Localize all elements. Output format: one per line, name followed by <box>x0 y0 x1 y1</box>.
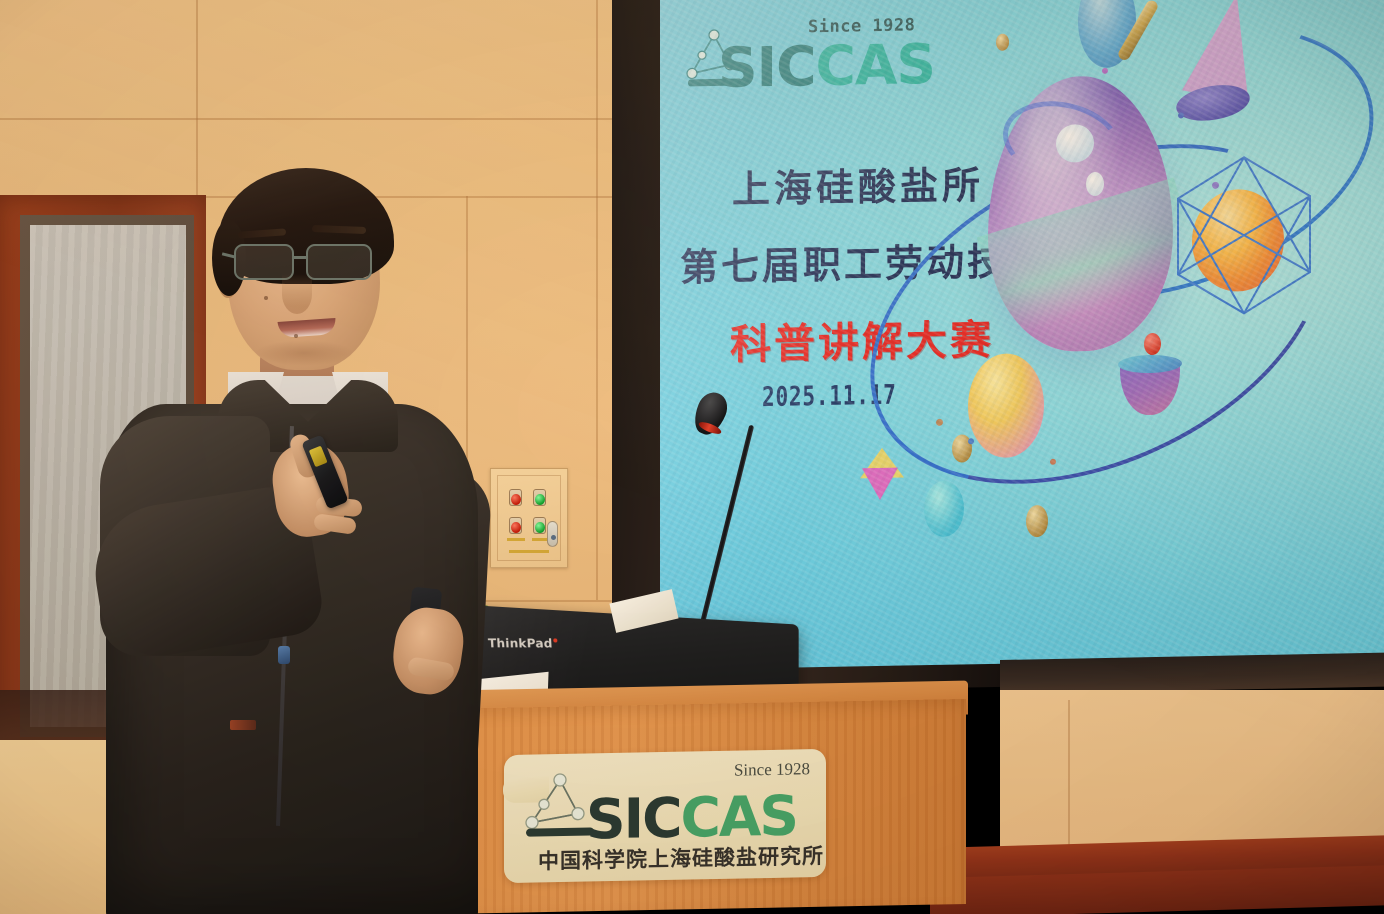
cyan-ellipse <box>924 480 964 537</box>
control-panel-inner-frame <box>497 475 561 561</box>
thinkpad-red-dot <box>553 638 557 642</box>
wall-seam <box>596 0 598 600</box>
jacket-badge <box>230 720 256 730</box>
wall-seam <box>0 118 700 120</box>
glasses-lens-right <box>306 244 372 280</box>
gold-sphere-2 <box>1026 505 1048 537</box>
glasses-bridge <box>294 256 308 259</box>
indicator-lamp-green-top[interactable] <box>533 489 546 506</box>
icosahedron-edges <box>1170 152 1318 320</box>
thinkpad-logo: ThinkPad <box>488 636 558 650</box>
indicator-lamp-red-top[interactable] <box>509 489 522 506</box>
led-screen[interactable]: Since 1928 SICCAS 上海硅酸盐所 第七届职工劳动技能竞赛 科普讲… <box>660 0 1384 670</box>
egg-highlight-small <box>1086 172 1104 196</box>
screen-artwork <box>840 0 1384 609</box>
jacket-zipper-pull <box>278 646 290 664</box>
wall-seam <box>196 0 198 196</box>
plaque-wordmark-part1: SIC <box>586 786 680 852</box>
wall-seam <box>1068 700 1070 850</box>
plaque-since-text: Since 1928 <box>734 759 810 780</box>
presenter-mole <box>294 334 298 338</box>
podium-plaque: Since 1928 SICCAS 中国科学院上海硅酸盐研究所 <box>504 749 826 883</box>
presenter <box>78 168 498 914</box>
screen-lower-bezel <box>1000 653 1384 694</box>
presenter-mole <box>264 296 268 300</box>
gold-sphere-small <box>996 34 1009 51</box>
control-label-left <box>507 538 525 541</box>
rocker-switch[interactable] <box>547 521 558 547</box>
egg-band <box>977 177 1188 287</box>
presentation-scene-photo: Since 1928 SICCAS 上海硅酸盐所 第七届职工劳动技能竞赛 科普讲… <box>0 0 1384 914</box>
tetrahedron-bottom <box>862 468 898 501</box>
indicator-lamp-red-bottom[interactable] <box>509 517 522 534</box>
clicker-label <box>309 446 328 468</box>
teapot-lid <box>1118 354 1182 373</box>
presenter-nose <box>282 274 312 314</box>
crystal-lattice-icon <box>522 769 596 848</box>
wall-control-panel[interactable] <box>490 468 568 568</box>
icosahedron-wireframe <box>1170 152 1318 320</box>
control-label-bottom <box>509 550 549 553</box>
indicator-lamp-green-bottom[interactable] <box>533 517 546 534</box>
plaque-chinese-name: 中国科学院上海硅酸盐研究所 <box>538 840 824 875</box>
presenter-chin-shadow <box>254 340 354 366</box>
plaque-wordmark-part2: CAS <box>680 783 797 849</box>
screen-wordmark-part1: SIC <box>718 34 815 100</box>
